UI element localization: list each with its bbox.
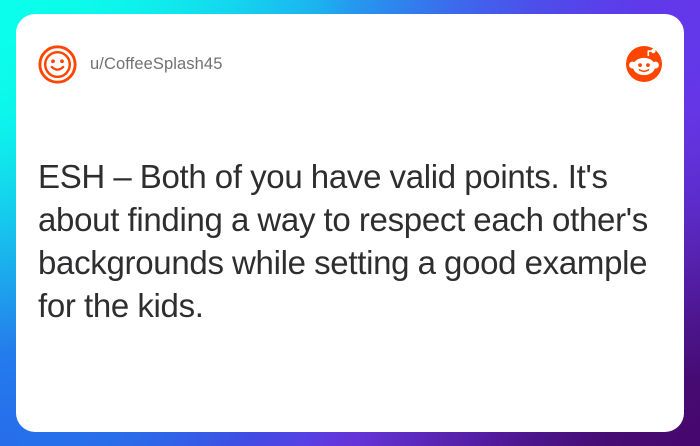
reddit-comment-card: u/CoffeeSplash45 ESH – Both of you h	[16, 14, 684, 432]
quote-text: ESH – Both of you have valid points. It'…	[38, 155, 664, 327]
reddit-snoo-logo-icon	[626, 46, 662, 82]
card-header: u/CoffeeSplash45	[16, 14, 684, 114]
smiley-face-avatar-icon	[37, 44, 78, 85]
username-label: u/CoffeeSplash45	[90, 55, 222, 74]
